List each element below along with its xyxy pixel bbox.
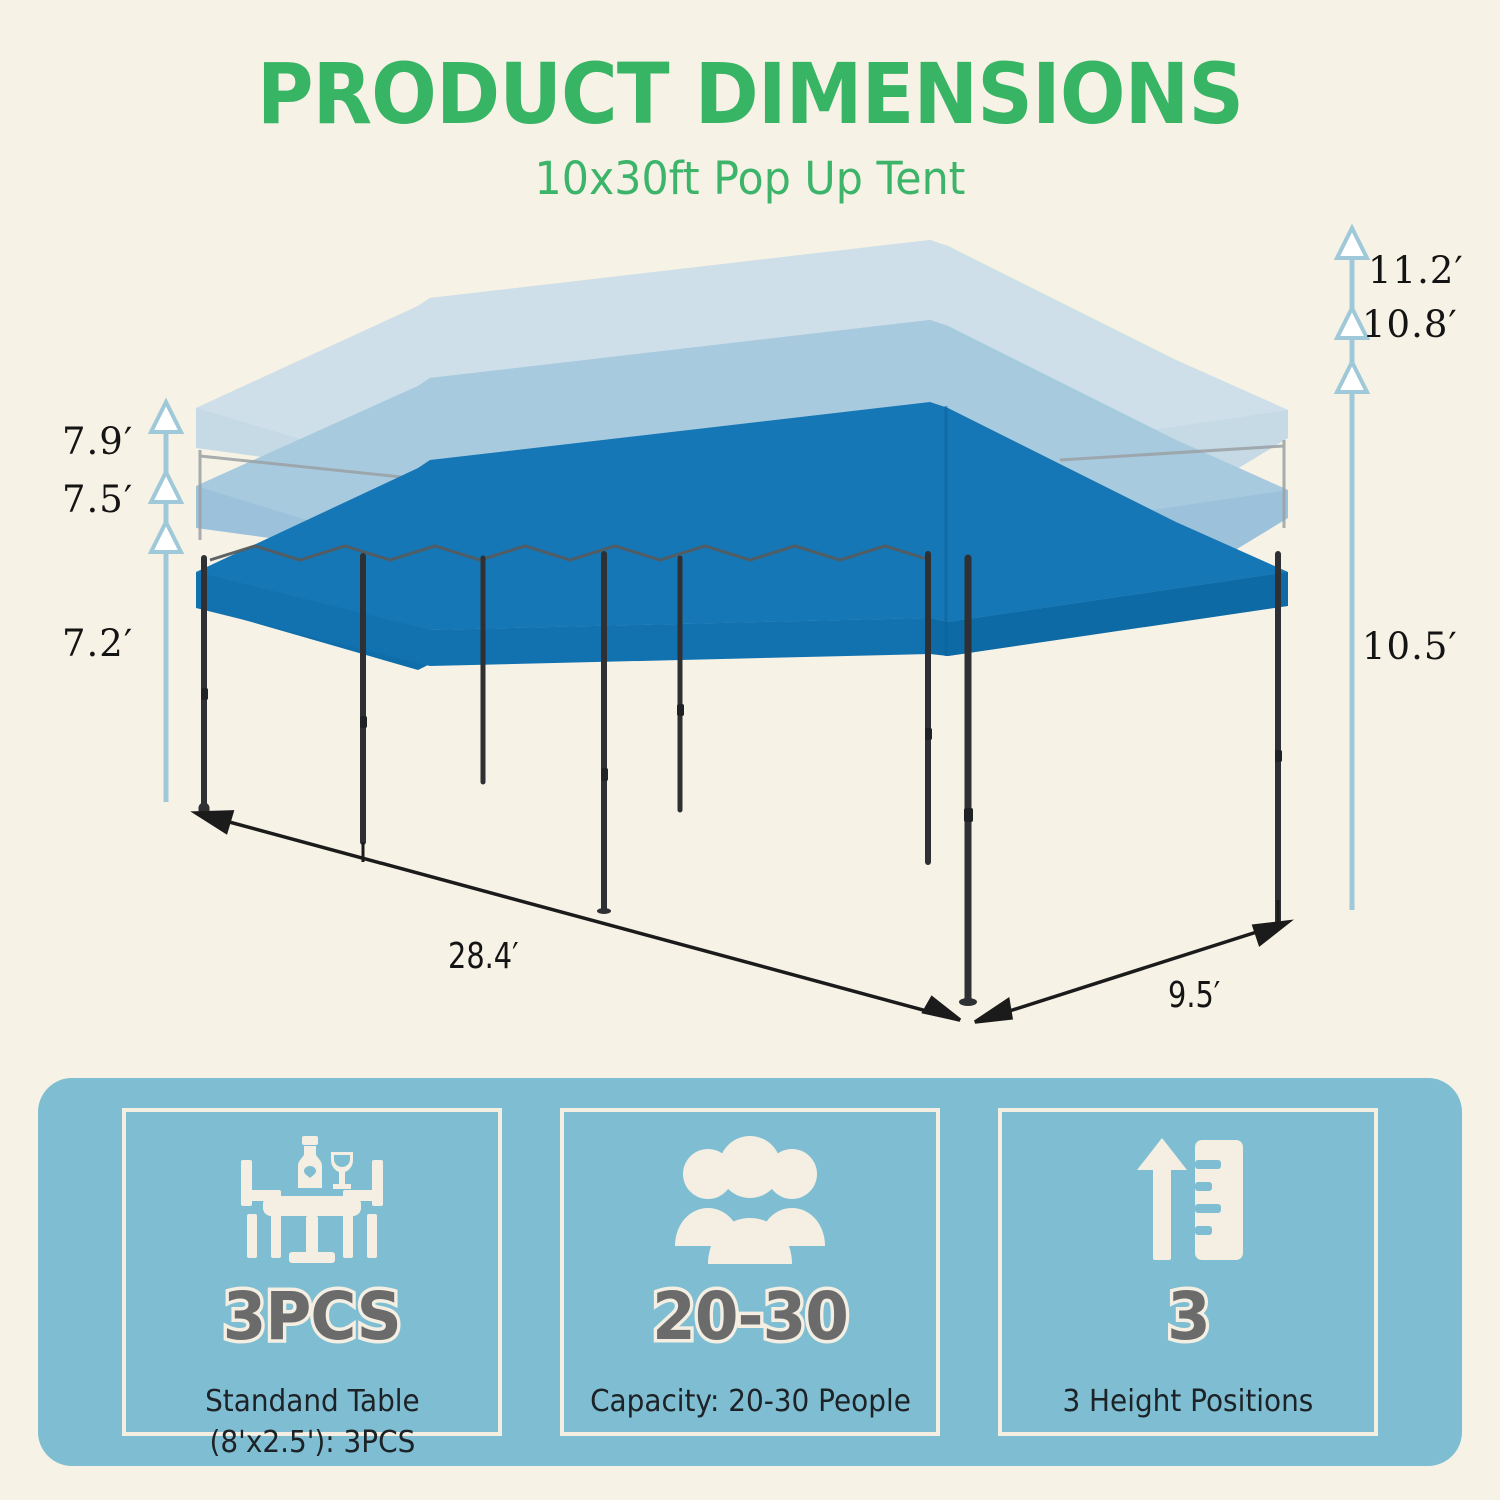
- dimension-label-height-7-5: 7.5′: [62, 478, 133, 521]
- left-height-dimension-arrow: [151, 402, 181, 802]
- feature-panel: 3PCS Standand Table (8'x2.5'): 3PCS: [38, 1078, 1462, 1466]
- feature-card-capacity: 20-30 Capacity: 20-30 People: [560, 1108, 940, 1436]
- feature-caption-line2: (8'x2.5'): 3PCS: [205, 1422, 420, 1463]
- feature-caption-capacity: Capacity: 20-30 People: [590, 1381, 911, 1422]
- dimension-extension-ticks: [363, 842, 1278, 922]
- product-dimensions-infographic: PRODUCT DIMENSIONS 10x30ft Pop Up Tent: [0, 0, 1500, 1500]
- ruler-height-arrow-icon: [1123, 1134, 1253, 1268]
- feature-card-height-positions: 3 3 Height Positions: [998, 1108, 1378, 1436]
- feature-value-20-30: 20-30: [652, 1278, 848, 1355]
- dimension-label-height-11-2: 11.2′: [1368, 249, 1464, 292]
- page-title: PRODUCT DIMENSIONS: [60, 52, 1440, 138]
- feature-caption-line1: Capacity: 20-30 People: [590, 1381, 911, 1422]
- dimension-label-height-10-8: 10.8′: [1362, 303, 1458, 346]
- dimension-label-length-28-4: 28.4′: [448, 936, 519, 977]
- feature-caption-line1: Standand Table: [205, 1381, 420, 1422]
- table-with-bottle-and-glass-icon: [223, 1134, 401, 1268]
- people-group-icon: [670, 1134, 830, 1268]
- dimension-label-height-7-2: 7.2′: [62, 622, 133, 665]
- feature-caption-height-positions: 3 Height Positions: [1063, 1381, 1314, 1422]
- feature-value-3: 3: [1167, 1278, 1210, 1355]
- footprint-dimension-arrows: [196, 812, 1288, 1022]
- feature-card-standard-table: 3PCS Standand Table (8'x2.5'): 3PCS: [122, 1108, 502, 1436]
- feature-caption-line1: 3 Height Positions: [1063, 1381, 1314, 1422]
- page-subtitle: 10x30ft Pop Up Tent: [38, 152, 1463, 205]
- header: PRODUCT DIMENSIONS 10x30ft Pop Up Tent: [0, 52, 1500, 205]
- feature-value-3pcs: 3PCS: [223, 1278, 401, 1355]
- dimension-label-height-7-9: 7.9′: [62, 420, 133, 463]
- feature-caption-standard-table: Standand Table (8'x2.5'): 3PCS: [205, 1381, 420, 1464]
- dimension-label-height-10-5: 10.5′: [1362, 625, 1458, 668]
- dimension-label-depth-9-5: 9.5′: [1168, 975, 1220, 1016]
- leg-feet: [597, 908, 977, 1006]
- tent-illustration: [0, 210, 1500, 1060]
